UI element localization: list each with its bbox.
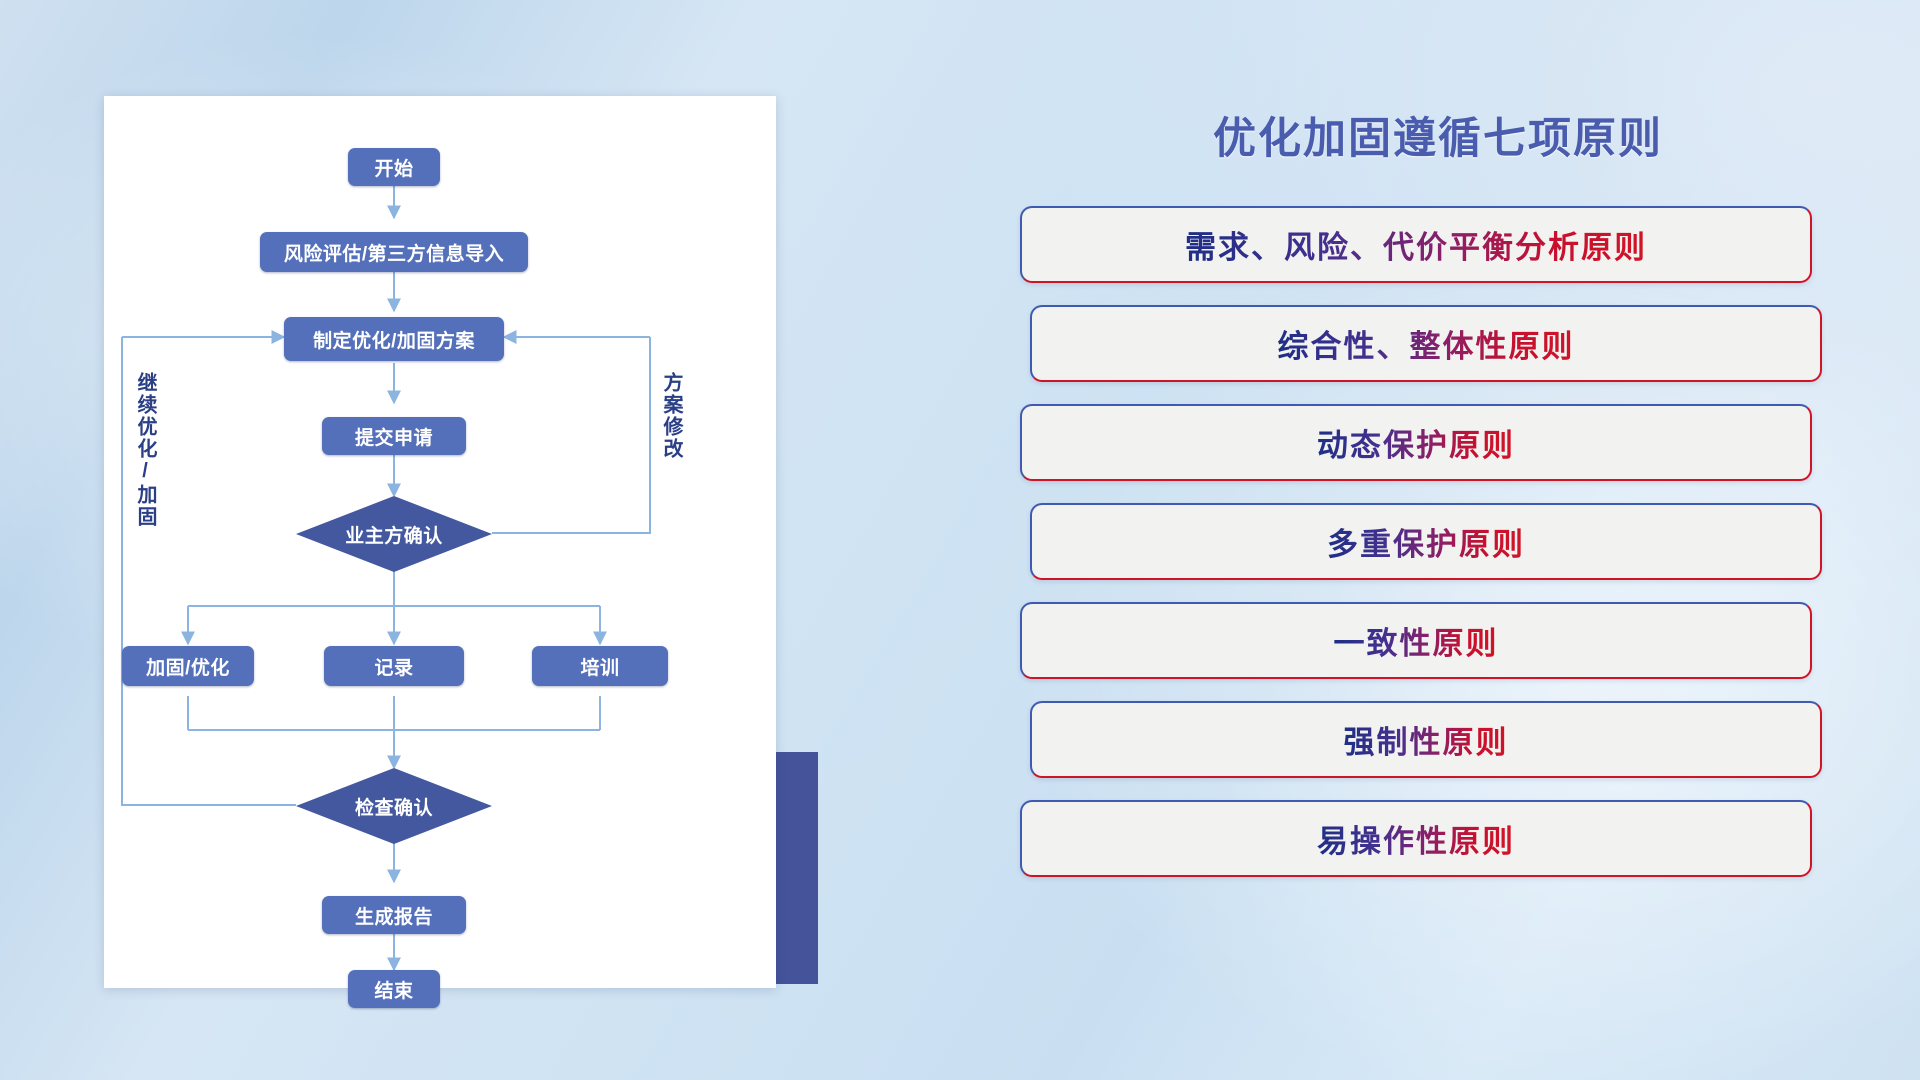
flow-node-risk-assessment[interactable]: 风险评估/第三方信息导入 [260, 232, 528, 272]
flow-node-label: 生成报告 [355, 902, 433, 929]
flow-node-label: 检查确认 [355, 793, 433, 820]
principle-card[interactable]: 强制性原则 [1030, 701, 1822, 778]
principle-card[interactable]: 一致性原则 [1020, 602, 1812, 679]
principle-card[interactable]: 需求、风险、代价平衡分析原则 [1020, 206, 1812, 283]
flow-node-label: 制定优化/加固方案 [313, 326, 475, 353]
flow-node-label: 结束 [374, 976, 413, 1003]
principle-card-label: 动态保护原则 [1317, 420, 1515, 465]
principles-panel: 优化加固遵循七项原则 需求、风险、代价平衡分析原则 综合性、整体性原则 动态保护… [1020, 104, 1830, 1004]
flow-node-plan-creation[interactable]: 制定优化/加固方案 [284, 317, 504, 361]
flow-node-submit-application[interactable]: 提交申请 [322, 417, 466, 455]
principle-card-label: 综合性、整体性原则 [1278, 321, 1575, 366]
principles-card-list: 需求、风险、代价平衡分析原则 综合性、整体性原则 动态保护原则 多重保护原则 一… [1020, 206, 1830, 877]
principle-card[interactable]: 易操作性原则 [1020, 800, 1812, 877]
principle-card-label: 强制性原则 [1344, 717, 1509, 762]
flow-node-label: 提交申请 [355, 423, 433, 450]
principle-card[interactable]: 动态保护原则 [1020, 404, 1812, 481]
flow-node-label: 风险评估/第三方信息导入 [284, 239, 504, 266]
flow-node-record[interactable]: 记录 [324, 646, 464, 686]
flow-node-generate-report[interactable]: 生成报告 [322, 896, 466, 934]
principles-title: 优化加固遵循七项原则 [1046, 104, 1830, 166]
flow-node-label: 加固/优化 [146, 653, 230, 680]
flow-node-label: 记录 [374, 653, 413, 680]
principle-card-label: 易操作性原则 [1317, 816, 1515, 861]
principle-card[interactable]: 多重保护原则 [1030, 503, 1822, 580]
flow-edge-label-plan-revision: 方案修改 [660, 372, 681, 460]
flow-node-training[interactable]: 培训 [532, 646, 668, 686]
principle-card-label: 一致性原则 [1334, 618, 1499, 663]
principle-card-label: 需求、风险、代价平衡分析原则 [1185, 222, 1647, 267]
flow-node-start[interactable]: 开始 [348, 148, 440, 186]
flow-node-reinforce-optimize[interactable]: 加固/优化 [122, 646, 254, 686]
principle-card-label: 多重保护原则 [1327, 519, 1525, 564]
principle-card[interactable]: 综合性、整体性原则 [1030, 305, 1822, 382]
flow-node-label: 业主方确认 [345, 521, 443, 548]
flow-node-label: 培训 [580, 653, 619, 680]
flow-node-label: 开始 [374, 154, 413, 181]
flowchart-panel: 开始 风险评估/第三方信息导入 制定优化/加固方案 提交申请 业主方确认 加固/… [104, 96, 776, 988]
flow-node-end[interactable]: 结束 [348, 970, 440, 1008]
flow-edge-label-continue-optimize: 继续优化/加固 [134, 372, 155, 528]
